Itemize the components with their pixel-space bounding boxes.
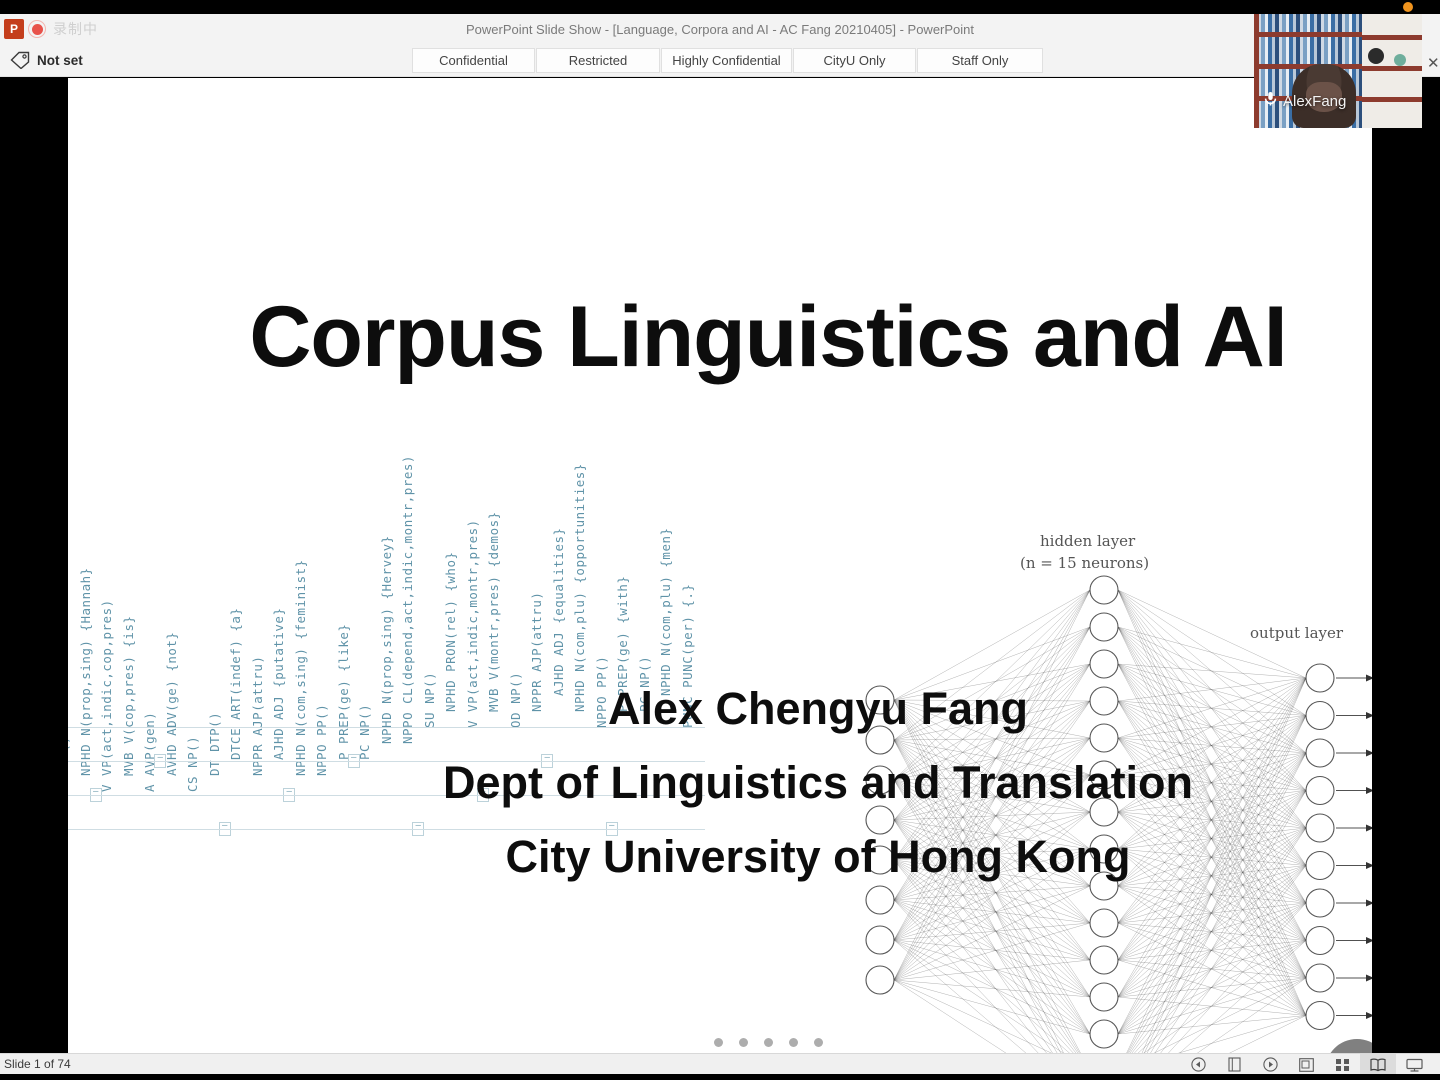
window-title: PowerPoint Slide Show - [Language, Corpo… <box>0 22 1440 37</box>
parse-tree-label: V VP(act,indic,cop,pres) <box>99 599 114 792</box>
nn-hidden-layer-label: hidden layer <box>1040 532 1135 550</box>
parse-tree-label: CS NP() <box>185 736 200 792</box>
classification-current-label: Not set <box>37 53 83 68</box>
nn-output-layer-label: output layer <box>1250 624 1343 642</box>
grid-view-icon[interactable] <box>1324 1054 1360 1075</box>
parse-tree-label: DTCE ART(indef) {a} <box>228 608 243 761</box>
webcam-overlay[interactable]: AlexFang <box>1254 14 1422 128</box>
parse-tree-label: NPHD N(com,sing) {feminist} <box>293 559 308 776</box>
parse-tree-label: AJHD ADJ {equalities} <box>551 527 566 696</box>
parse-tree-label: NPHD N(com,plu) {opportunities} <box>572 463 587 712</box>
slide-nav-dot[interactable] <box>739 1038 748 1047</box>
tag-icon <box>10 51 30 69</box>
parse-tree-label: NPHD N(prop,sing) {Hannah} <box>78 567 93 776</box>
classification-button-group: Confidential Restricted Highly Confident… <box>412 48 1044 73</box>
window-title-bar: P 录制中 PowerPoint Slide Show - [Language,… <box>0 14 1440 44</box>
classification-button-cityu-only[interactable]: CityU Only <box>793 48 916 73</box>
parse-tree-connector <box>68 829 705 830</box>
parse-tree-label: DT DTP() <box>207 712 222 776</box>
slide-nav-dot[interactable] <box>714 1038 723 1047</box>
slide-nav-dot[interactable] <box>789 1038 798 1047</box>
neural-network-diagram: 0123456789 hidden layer (n = 15 neurons)… <box>768 438 1372 1053</box>
microphone-icon <box>1264 91 1277 111</box>
presenter-view-icon[interactable] <box>1396 1054 1432 1075</box>
record-dot-icon[interactable] <box>28 20 46 38</box>
slide-subtitle-line-3: City University of Hong Kong <box>268 831 1368 883</box>
slide-subtitle-line-1: Alex Chengyu Fang <box>268 683 1368 735</box>
classification-button-staff-only[interactable]: Staff Only <box>917 48 1043 73</box>
status-bar: Slide 1 of 74 <box>0 1053 1440 1074</box>
parse-tree-label: MVB V(cop,pres) {is} <box>121 615 136 776</box>
slide-navigation-dots[interactable] <box>668 1038 868 1047</box>
recording-label: 录制中 <box>53 19 98 39</box>
slide-count-label: Slide 1 of 74 <box>4 1057 71 1071</box>
parse-tree-label: NPHD N(com,plu) {men} <box>658 527 673 696</box>
slide-subtitle-line-2: Dept of Linguistics and Translation <box>268 757 1368 809</box>
parse-tree-label: SU NP() <box>68 736 71 792</box>
participant-name: AlexFang <box>1283 93 1346 110</box>
next-slide-icon[interactable] <box>1252 1054 1288 1075</box>
pen-tools-icon[interactable] <box>1216 1054 1252 1075</box>
screen-bottom-letterbox <box>0 1074 1440 1080</box>
parse-tree-label: A AVP(gen) <box>142 712 157 792</box>
classification-button-restricted[interactable]: Restricted <box>536 48 660 73</box>
presenter-controls <box>1180 1054 1432 1075</box>
slide-canvas[interactable]: PU CL(main,act,decl,indic,cop,pres,unm)A… <box>68 78 1372 1053</box>
slide-thumbnail-icon[interactable] <box>1288 1054 1324 1075</box>
nn-hidden-layer-sublabel: (n = 15 neurons) <box>1020 554 1149 572</box>
powerpoint-slideshow-window: P 录制中 PowerPoint Slide Show - [Language,… <box>0 0 1440 1080</box>
classification-button-highly-confidential[interactable]: Highly Confidential <box>661 48 792 73</box>
powerpoint-icon: P <box>4 19 24 39</box>
slide-title: Corpus Linguistics and AI <box>218 288 1318 387</box>
parse-tree-label: MVB V(montr,pres) {demos} <box>486 511 501 712</box>
close-icon[interactable]: ✕ <box>1427 54 1440 72</box>
participant-name-bar: AlexFang <box>1254 86 1422 116</box>
reading-view-icon[interactable] <box>1360 1054 1396 1075</box>
previous-slide-icon[interactable] <box>1180 1054 1216 1075</box>
slide-nav-dot[interactable] <box>814 1038 823 1047</box>
notification-dot-icon <box>1403 2 1413 12</box>
slide-stage: PU CL(main,act,decl,indic,cop,pres,unm)A… <box>0 78 1440 1053</box>
slide-nav-dot[interactable] <box>764 1038 773 1047</box>
classification-bar: Not set Confidential Restricted Highly C… <box>0 44 1440 77</box>
classification-button-confidential[interactable]: Confidential <box>412 48 535 73</box>
screen-top-letterbox <box>0 0 1440 14</box>
parse-tree-label: NPPR AJP(attru) <box>250 656 265 776</box>
